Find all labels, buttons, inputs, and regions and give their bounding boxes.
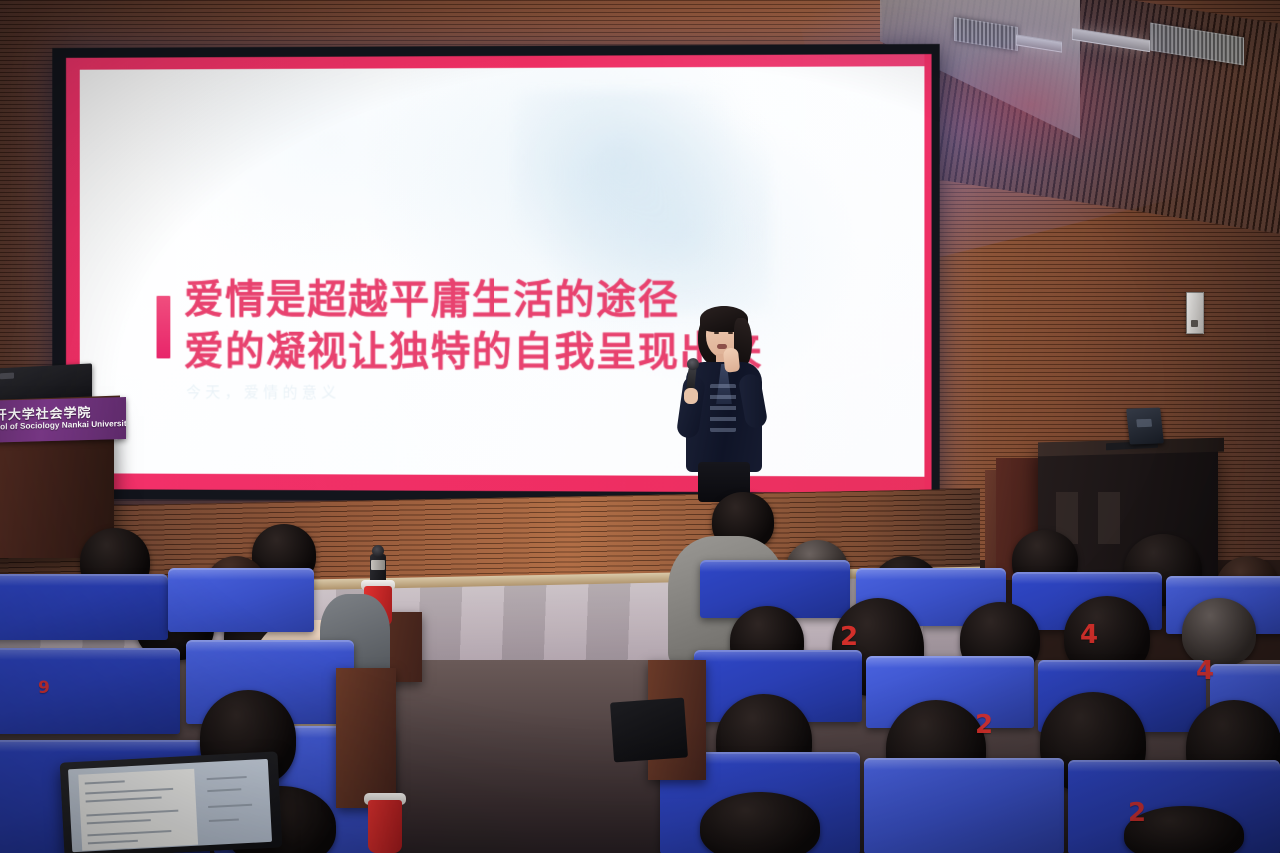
slide-border-right <box>924 54 931 493</box>
seat-number: 2 <box>1128 798 1146 828</box>
slide-border-bottom <box>66 473 932 493</box>
seat[interactable] <box>864 758 1064 853</box>
presenter-mic-hand <box>684 388 698 404</box>
presenter-raised-hand <box>723 347 740 372</box>
seat-highlight <box>700 560 850 572</box>
av-laptop[interactable] <box>1126 408 1164 445</box>
seat[interactable] <box>0 574 168 640</box>
seat-highlight <box>1210 664 1280 676</box>
lectern-banner-en: School of Sociology Nankai University <box>0 419 124 432</box>
presenter <box>676 302 772 494</box>
tablet-device[interactable] <box>610 697 688 762</box>
light-switch-plate[interactable] <box>1186 292 1204 334</box>
slide-title: 爱情是超越平庸生活的途径 爱的凝视让独特的自我呈现出来 <box>184 274 885 379</box>
seat-highlight <box>856 568 1006 580</box>
seat-highlight <box>694 650 862 662</box>
presentation-slide: 爱情是超越平庸生活的途径 爱的凝视让独特的自我呈现出来 今天，爱情的意义 <box>66 54 932 493</box>
seat-highlight <box>168 568 314 580</box>
paper-cup <box>368 800 402 853</box>
seat-highlight <box>0 648 180 660</box>
audience-head <box>1182 598 1256 666</box>
laptop-screen <box>68 759 272 852</box>
seat-highlight <box>1166 576 1280 588</box>
seat-number: 4 <box>1196 656 1214 686</box>
seat-number: 2 <box>975 710 993 740</box>
seat-highlight <box>0 740 210 752</box>
seat-highlight <box>186 640 354 652</box>
seat-number: 9 <box>38 678 50 698</box>
document-page <box>78 769 198 851</box>
lecture-hall-photo: 爱情是超越平庸生活的途径 爱的凝视让独特的自我呈现出来 今天，爱情的意义 南开大… <box>0 0 1280 853</box>
lectern-banner: 南开大学社会学院 School of Sociology Nankai Univ… <box>0 397 126 443</box>
seat-number: 2 <box>840 622 858 652</box>
presenter-eye <box>728 332 733 334</box>
seat-highlight <box>1012 572 1162 584</box>
audience-laptop[interactable] <box>60 751 283 853</box>
audience-head <box>700 792 820 853</box>
seat-highlight <box>1038 660 1206 672</box>
seat[interactable] <box>168 568 314 632</box>
slide-subtitle: 今天，爱情的意义 <box>186 381 340 402</box>
slide-canvas: 爱情是超越平庸生活的途径 爱的凝视让独特的自我呈现出来 今天，爱情的意义 <box>80 66 925 477</box>
seat-number: 4 <box>1080 620 1098 650</box>
seat-highlight <box>864 758 1064 770</box>
desk <box>336 668 396 808</box>
projection-screen: 爱情是超越平庸生活的途径 爱的凝视让独特的自我呈现出来 今天，爱情的意义 <box>52 44 939 503</box>
seat-highlight <box>1068 760 1280 772</box>
seat-highlight <box>0 574 168 586</box>
presenter-eye <box>714 332 719 334</box>
seat[interactable] <box>0 648 180 734</box>
presenter-jacket-print <box>710 384 736 432</box>
seat-highlight <box>866 656 1034 668</box>
title-accent-bar <box>157 296 171 359</box>
